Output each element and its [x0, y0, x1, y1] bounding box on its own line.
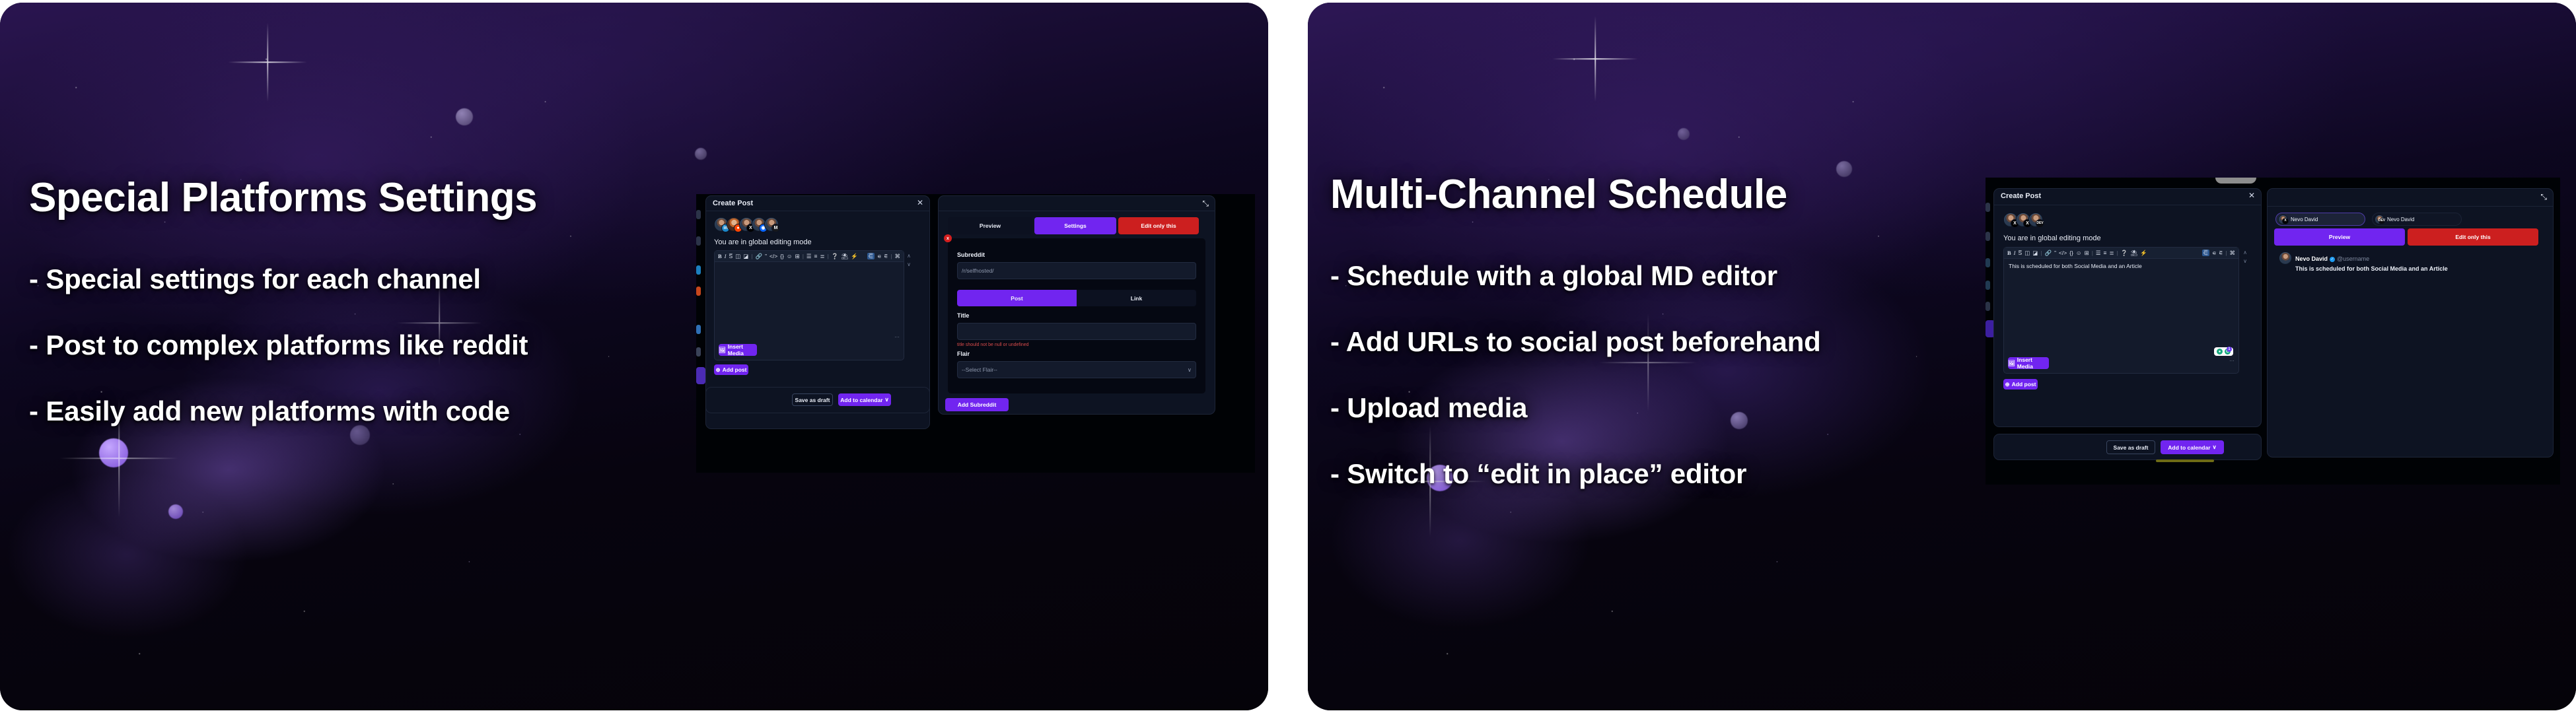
tab-edit-only-this[interactable]: Edit only this [2408, 228, 2538, 246]
settings-tabs: Preview Settings Edit only this [948, 217, 1205, 234]
close-icon[interactable]: ✕ [917, 199, 923, 207]
image-icon: 🖼 [2008, 360, 2015, 367]
grammarly-hint-icon: ● [2217, 349, 2223, 355]
tab-settings[interactable]: Settings [1034, 217, 1116, 234]
post-preview: Nevo David✓@username This is scheduled f… [2279, 252, 2541, 272]
emoji-icon[interactable]: ☺ [2076, 250, 2082, 256]
overflow-dots: … [2229, 356, 2235, 362]
editor-scroll-up[interactable]: ∧ [906, 253, 912, 259]
decor-sparkle [1552, 16, 1638, 102]
subreddit-placeholder: /r/selfhosted/ [962, 267, 994, 274]
split-view-icon[interactable]: ⋶ [2202, 250, 2209, 257]
fullscreen-icon[interactable]: ⌘ [895, 254, 901, 259]
avatar [2279, 252, 2291, 264]
add-calendar-label: Add to calendar [840, 397, 882, 403]
decor-sparkle [228, 22, 307, 102]
sidebar-fragment [1986, 203, 1990, 212]
heading-icon[interactable]: ◫ [735, 254, 740, 259]
quote-icon[interactable]: ” [2054, 250, 2056, 256]
post-author-name: Nevo David [2295, 255, 2328, 262]
divider: | [751, 254, 752, 259]
channel-chip-x[interactable]: X Nevo David [2275, 213, 2365, 226]
settings-panel-header: ⤡ [939, 196, 1215, 211]
modal-title: Create Post [2001, 192, 2041, 200]
expand-icon[interactable]: ⤡ [2540, 193, 2547, 201]
slide-title: Special Platforms Settings [29, 174, 537, 221]
grammarly-widget[interactable]: ● G 1 [2214, 347, 2233, 356]
add-subreddit-button[interactable]: Add Subreddit [945, 398, 1009, 411]
post-type-segmented-control: Post Link [957, 290, 1196, 306]
avatar: X [2278, 215, 2288, 224]
slide-bullet: - Upload media [1330, 392, 1527, 424]
add-post-label: Add post [2012, 381, 2036, 388]
tab-edit-only-this-label: Edit only this [1141, 222, 1176, 229]
table-icon[interactable]: ⊞ [795, 254, 800, 259]
create-post-modal: Create Post ✕ X X DEV You are in global … [1993, 188, 2262, 427]
italic-icon[interactable]: I [2014, 250, 2016, 256]
heading-icon[interactable]: ◫ [2024, 250, 2030, 256]
insert-media-label: Insert Media [2017, 356, 2049, 370]
image-icon: 🖼 [719, 347, 726, 354]
strikethrough-icon[interactable]: S̅ [729, 254, 733, 259]
preview-panel-header: ⤡ [2268, 189, 2553, 207]
editor-scroll-up[interactable]: ∧ [2242, 250, 2248, 256]
bold-icon[interactable]: B [718, 254, 722, 259]
chevron-down-icon: ∨ [1188, 366, 1192, 374]
tab-preview-label: Preview [980, 222, 1001, 229]
markdown-editor[interactable]: B I S̅ ◫ ◪ | 🔗 ” </> {} ☺ ⊞ | ☰ [2003, 247, 2239, 374]
divider: | [803, 254, 804, 259]
editor-only-icon[interactable]: ⋷ [884, 254, 888, 259]
sidebar-fragment [696, 236, 701, 246]
channel-preview-panel: ⤡ X Nevo David DEV Nevo David Preview Ed… [2267, 188, 2554, 458]
code-icon[interactable]: </> [769, 254, 777, 259]
paragraph-icon[interactable]: ◪ [743, 254, 748, 259]
flair-label: Flair [957, 351, 970, 357]
slide-multi-channel: Multi-Channel Schedule - Schedule with a… [1308, 3, 2576, 710]
ordered-list-icon[interactable]: ≡ [2104, 250, 2107, 256]
divider: | [2225, 250, 2227, 256]
modal-header: Create Post ✕ [1994, 189, 2261, 205]
paragraph-icon[interactable]: ◪ [2032, 250, 2038, 256]
quote-icon[interactable]: ” [765, 254, 767, 259]
avatar[interactable]: M [764, 217, 779, 232]
slide-bullet: - Special settings for each channel [29, 263, 481, 295]
channel-avatar-list: X X DEV [2003, 213, 2041, 227]
divider: | [890, 254, 892, 259]
bullet-list-icon[interactable]: ☰ [2096, 250, 2101, 256]
help-icon[interactable]: ❔ [832, 254, 839, 259]
preview-only-icon[interactable]: ⋴ [877, 254, 881, 259]
segment-post[interactable]: Post [957, 290, 1077, 306]
editor-scroll-down[interactable]: ∨ [906, 261, 912, 268]
tab-preview-label: Preview [2329, 234, 2350, 240]
grammarly-icon: G 1 [2225, 349, 2231, 355]
markdown-editor[interactable]: B I S̅ ◫ ◪ | 🔗 ” </> {} ☺ ⊞ | ☰ [714, 250, 904, 360]
tab-edit-only-this[interactable]: Edit only this [1118, 217, 1199, 234]
sidebar-fragment [696, 287, 701, 296]
split-view-icon[interactable]: ⋶ [867, 253, 875, 260]
link-icon[interactable]: 🔗 [2044, 250, 2052, 256]
sidebar-fragment [696, 367, 705, 384]
divider: | [2040, 250, 2042, 256]
subreddit-label: Subreddit [957, 252, 985, 258]
chevron-down-icon: ∨ [2213, 444, 2217, 451]
slide-bullet: - Easily add new platforms with code [29, 395, 510, 427]
channel-chip-label: Nevo David [2387, 217, 2414, 222]
task-list-icon[interactable]: ≣ [2110, 250, 2114, 256]
channel-chip-label: Nevo David [2291, 217, 2318, 222]
editor-toolbar: B I S̅ ◫ ◪ | 🔗 ” </> {} ☺ ⊞ | ☰ [2004, 248, 2238, 259]
strikethrough-icon[interactable]: S̅ [2019, 250, 2022, 256]
task-list-icon[interactable]: ≣ [820, 254, 825, 259]
add-calendar-label: Add to calendar [2168, 444, 2210, 451]
divider: | [2092, 250, 2093, 256]
slide-bullet: - Switch to “edit in place” editor [1330, 458, 1746, 490]
save-draft-button[interactable]: Save as draft [792, 393, 833, 406]
channel-chip-devto[interactable]: DEV Nevo David [2372, 213, 2462, 226]
mastodon-icon: M [771, 224, 780, 232]
divider: | [2117, 250, 2118, 256]
slide-special-platforms: Special Platforms Settings - Special set… [0, 3, 1268, 710]
italic-icon[interactable]: I [725, 254, 727, 259]
code-icon[interactable]: </> [2059, 250, 2067, 256]
expand-icon[interactable]: ⤡ [1202, 199, 1209, 207]
fullscreen-icon[interactable]: ⌘ [2230, 250, 2236, 256]
save-draft-button[interactable]: Save as draft [2106, 440, 2155, 454]
title-error-message: title should not be null or undefined [957, 343, 1029, 347]
code-block-icon[interactable]: {} [780, 254, 784, 259]
decor-orb [695, 148, 707, 160]
modal-title: Create Post [713, 199, 753, 207]
settings-card: x Subreddit /r/selfhosted/ Post Link Tit… [948, 238, 1205, 393]
editor-only-icon[interactable]: ⋷ [2219, 250, 2223, 256]
decor-orb [350, 425, 370, 445]
tab-settings-label: Settings [1064, 222, 1087, 229]
add-subreddit-label: Add Subreddit [958, 401, 997, 408]
table-icon[interactable]: ⊞ [2085, 250, 2089, 256]
post-text: This is scheduled for both Social Media … [2295, 265, 2448, 272]
add-to-calendar-button[interactable]: Add to calendar ∨ [2161, 440, 2224, 454]
overflow-dots: … [894, 333, 900, 339]
lightning-icon[interactable]: ⚡ [851, 254, 858, 259]
devto-icon: DEV [2036, 219, 2044, 228]
sidebar-fragment [696, 325, 701, 334]
sidebar-fragment [1986, 281, 1990, 290]
slide-deck-canvas: Special Platforms Settings - Special set… [0, 0, 2576, 713]
avatar: DEV [2375, 215, 2384, 224]
modal-footer: Save as draft Add to calendar ∨ [705, 387, 930, 413]
save-draft-label: Save as draft [795, 397, 830, 403]
plus-circle-icon: ⊕ [716, 366, 721, 374]
insert-media-button[interactable]: 🖼 Insert Media [2008, 357, 2049, 369]
divider: | [828, 254, 829, 259]
sidebar-fragment [696, 210, 701, 219]
bold-icon[interactable]: B [2007, 250, 2011, 256]
help-icon[interactable]: ❔ [2121, 250, 2128, 256]
sidebar-fragment [696, 265, 701, 275]
title-input[interactable] [957, 323, 1196, 340]
remove-subreddit-badge[interactable]: x [944, 234, 952, 242]
devto-icon: DEV [2379, 218, 2385, 224]
decor-orb [1731, 412, 1748, 429]
close-icon[interactable]: ✕ [2248, 191, 2255, 199]
link-icon[interactable]: 🔗 [755, 254, 762, 259]
editor-body[interactable]: … 🖼 Insert Media [715, 262, 904, 360]
window-notch [2215, 178, 2256, 184]
lightning-icon[interactable]: ⚡ [2140, 250, 2147, 256]
slide-bullet: - Add URLs to social post beforehand [1330, 326, 1821, 358]
grammarly-badge-count: 1 [2227, 347, 2232, 352]
modal-header: Create Post ✕ [706, 196, 929, 211]
emoji-icon[interactable]: ☺ [787, 254, 793, 259]
sidebar-fragment [696, 347, 701, 356]
editing-mode-text: You are in global editing mode [714, 238, 812, 246]
segment-post-label: Post [1011, 295, 1022, 302]
slide-title: Multi-Channel Schedule [1330, 171, 1787, 218]
decor-orb [1836, 161, 1852, 177]
segment-link-label: Link [1131, 295, 1142, 302]
title-label: Title [957, 312, 969, 319]
slide-bullet: - Post to complex platforms like reddit [29, 329, 528, 361]
platform-settings-panel: ⤡ Preview Settings Edit only this x Sub [938, 195, 1215, 415]
preview-only-icon[interactable]: ⋴ [2212, 250, 2216, 256]
verified-icon: ✓ [2330, 257, 2335, 262]
sidebar-fragment [1986, 232, 1990, 241]
sidebar-fragment [1986, 302, 1990, 311]
plus-circle-icon: ⊕ [2005, 381, 2010, 388]
editor-body[interactable]: This is scheduled for both Social Media … [2004, 259, 2238, 373]
segment-link[interactable]: Link [1077, 290, 1196, 306]
avatar[interactable]: DEV [2028, 213, 2043, 227]
add-post-button[interactable]: ⊕ Add post [714, 364, 748, 375]
tab-edit-only-this-label: Edit only this [2455, 234, 2490, 240]
ordered-list-icon[interactable]: ≡ [814, 254, 818, 259]
app-screenshot-right: Create Post ✕ X X DEV You are in global … [1986, 178, 2560, 485]
app-screenshot-left: Create Post ✕ in ● X ◉ M You are in glob… [696, 194, 1255, 473]
decor-orb [456, 108, 473, 125]
tab-preview[interactable]: Preview [948, 217, 1032, 234]
save-draft-label: Save as draft [2114, 444, 2149, 451]
post-author-row: Nevo David✓@username [2295, 252, 2448, 264]
add-post-label: Add post [723, 366, 747, 373]
insert-media-button[interactable]: 🖼 Insert Media [719, 344, 757, 356]
bullet-list-icon[interactable]: ☰ [806, 254, 812, 259]
code-block-icon[interactable]: {} [2069, 250, 2073, 256]
editor-content: This is scheduled for both Social Media … [2009, 263, 2142, 269]
post-handle: @username [2337, 255, 2369, 262]
editing-mode-text: You are in global editing mode [2003, 234, 2101, 242]
chevron-down-icon: ∨ [885, 396, 889, 403]
image-icon[interactable]: ⛱ [841, 254, 848, 259]
add-post-button[interactable]: ⊕ Add post [2003, 379, 2038, 390]
editor-scroll-down[interactable]: ∨ [2242, 258, 2248, 265]
add-to-calendar-button[interactable]: Add to calendar ∨ [838, 393, 891, 406]
channel-avatar-list: in ● X ◉ M [714, 217, 777, 232]
tab-preview[interactable]: Preview [2274, 228, 2405, 246]
image-icon[interactable]: ⛱ [2130, 250, 2137, 256]
decor-orb [1678, 128, 1690, 140]
flair-select[interactable]: --Select Flair-- ∨ [957, 361, 1196, 378]
editor-toolbar: B I S̅ ◫ ◪ | 🔗 ” </> {} ☺ ⊞ | ☰ [715, 251, 904, 262]
subreddit-input[interactable]: /r/selfhosted/ [957, 262, 1196, 279]
slide-bullet: - Schedule with a global MD editor [1330, 260, 1777, 292]
modal-footer: Save as draft Add to calendar ∨ [1993, 434, 2262, 460]
flair-placeholder: --Select Flair-- [962, 366, 997, 373]
post-preview-body: Nevo David✓@username This is scheduled f… [2295, 252, 2448, 272]
sidebar-fragment [1986, 258, 1990, 267]
insert-media-label: Insert Media [728, 343, 757, 356]
x-icon: X [2282, 218, 2289, 224]
progress-bar [2156, 459, 2214, 462]
